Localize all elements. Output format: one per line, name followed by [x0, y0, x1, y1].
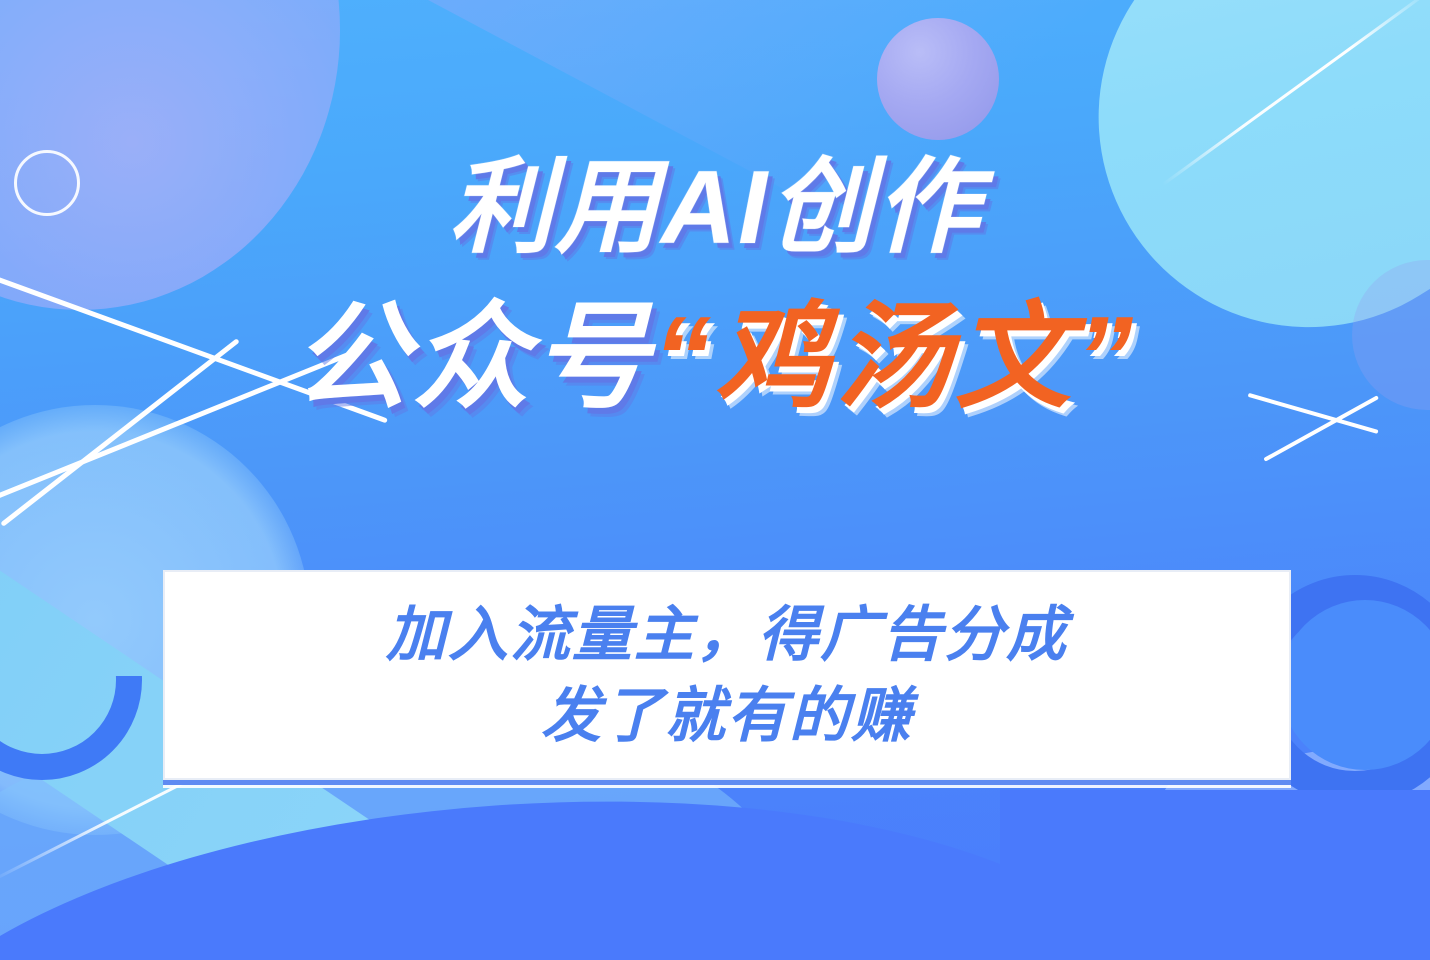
- promo-poster: 利用AI创作 公众号“鸡汤文” 加入流量主，得广告分成 发了就有的赚: [0, 0, 1430, 960]
- arc-u-bottom-left-decoration: [0, 580, 142, 780]
- wave-bottom-decoration: [0, 760, 1173, 960]
- disc-bottom-right-decoration: [1280, 600, 1430, 770]
- headline-line-1: 利用AI创作: [0, 150, 1430, 266]
- subtitle-box: 加入流量主，得广告分成 发了就有的赚: [163, 570, 1291, 780]
- headline-quote-close: ”: [1075, 292, 1137, 422]
- block-bottom-right-decoration: [1000, 790, 1430, 960]
- headline-quote-open: “: [653, 292, 715, 422]
- headline-group: 利用AI创作 公众号“鸡汤文”: [0, 150, 1430, 428]
- subtitle-line-1: 加入流量主，得广告分成: [386, 594, 1068, 675]
- headline-keyword-official-account: 公众号: [293, 292, 653, 422]
- headline-line-2: 公众号“鸡汤文”: [0, 288, 1430, 427]
- subtitle-line-2: 发了就有的赚: [541, 675, 913, 756]
- headline-keyword-chicken-soup: 鸡汤文: [715, 292, 1075, 422]
- sphere-periwinkle-decoration: [877, 18, 999, 140]
